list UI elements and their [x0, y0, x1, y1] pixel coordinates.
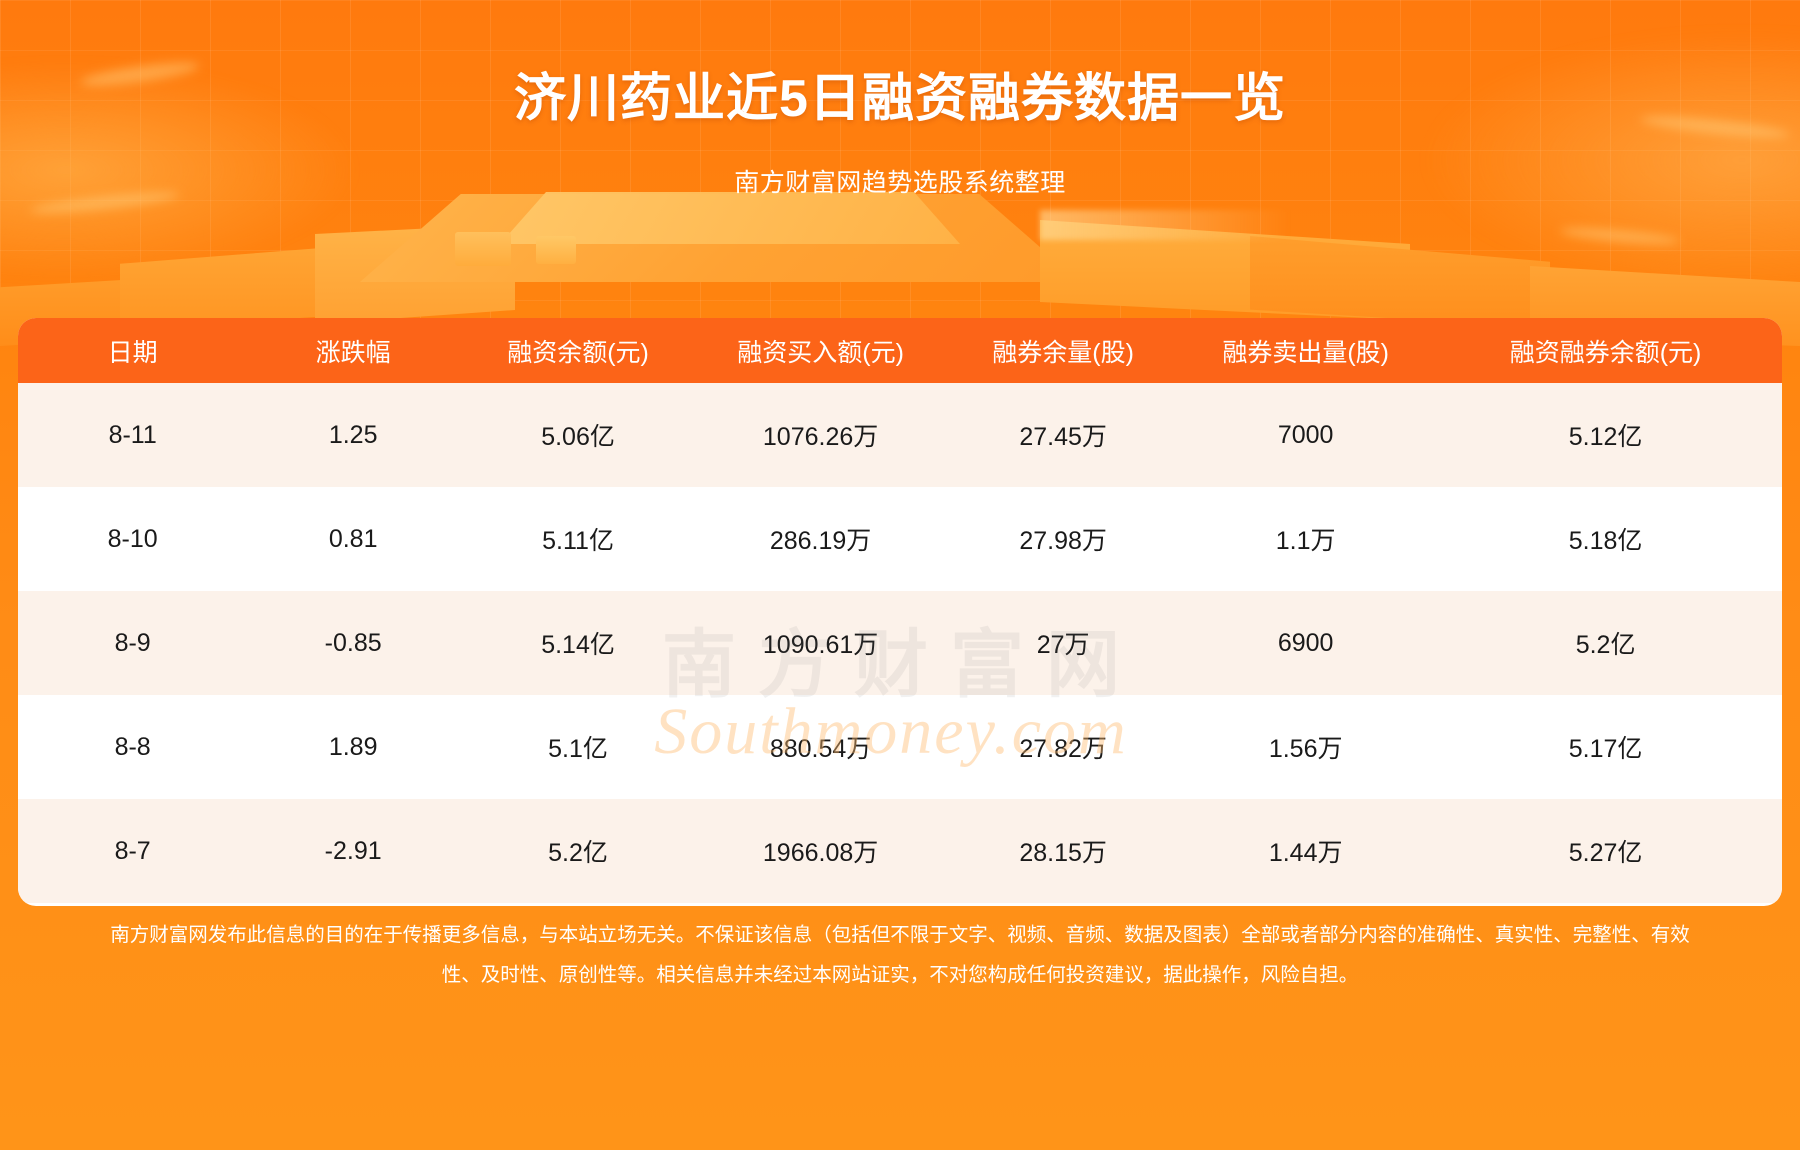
cell-margin-balance: 5.06亿	[459, 383, 697, 487]
cell-short-balance: 28.15万	[944, 799, 1182, 903]
cell-short-sell: 1.44万	[1182, 799, 1429, 903]
cell-short-balance: 27万	[944, 591, 1182, 695]
column-header-margin-buy: 融资买入额(元)	[697, 318, 944, 383]
page-subtitle: 南方财富网趋势选股系统整理	[0, 163, 1800, 199]
cell-total-balance: 5.12亿	[1429, 383, 1782, 487]
cell-margin-buy: 286.19万	[697, 487, 944, 591]
cell-short-balance: 27.82万	[944, 695, 1182, 799]
cell-short-balance: 27.45万	[944, 383, 1182, 487]
cell-short-sell: 7000	[1182, 383, 1429, 487]
podium-cube-a	[455, 232, 511, 266]
table-body: 8-11 1.25 5.06亿 1076.26万 27.45万 7000 5.1…	[18, 383, 1782, 903]
cell-short-sell: 6900	[1182, 591, 1429, 695]
cell-date: 8-9	[18, 591, 247, 695]
cell-margin-balance: 5.14亿	[459, 591, 697, 695]
column-header-date: 日期	[18, 318, 247, 383]
disclaimer: 南方财富网发布此信息的目的在于传播更多信息，与本站立场无关。不保证该信息（包括但…	[0, 915, 1800, 995]
page-header: 济川药业近5日融资融券数据一览 南方财富网趋势选股系统整理	[0, 0, 1800, 199]
column-header-margin-balance: 融资余额(元)	[459, 318, 697, 383]
cell-change: -2.91	[247, 799, 459, 903]
data-table-card: 日期 涨跌幅 融资余额(元) 融资买入额(元) 融券余量(股) 融券卖出量(股)…	[18, 318, 1782, 906]
cell-total-balance: 5.2亿	[1429, 591, 1782, 695]
cell-date: 8-10	[18, 487, 247, 591]
cell-margin-balance: 5.2亿	[459, 799, 697, 903]
cell-short-balance: 27.98万	[944, 487, 1182, 591]
table-row: 8-9 -0.85 5.14亿 1090.61万 27万 6900 5.2亿	[18, 591, 1782, 695]
podium-illustration	[0, 180, 1800, 340]
cell-margin-buy: 1966.08万	[697, 799, 944, 903]
disclaimer-line-1: 南方财富网发布此信息的目的在于传播更多信息，与本站立场无关。不保证该信息（包括但…	[8, 915, 1792, 955]
cell-margin-balance: 5.1亿	[459, 695, 697, 799]
page-title: 济川药业近5日融资融券数据一览	[0, 56, 1800, 131]
cell-date: 8-7	[18, 799, 247, 903]
column-header-change: 涨跌幅	[247, 318, 459, 383]
cell-total-balance: 5.17亿	[1429, 695, 1782, 799]
table-row: 8-8 1.89 5.1亿 880.54万 27.82万 1.56万 5.17亿	[18, 695, 1782, 799]
disclaimer-line-2: 性、及时性、原创性等。相关信息并未经过本网站证实，不对您构成任何投资建议，据此操…	[8, 955, 1792, 995]
column-header-short-sell: 融券卖出量(股)	[1182, 318, 1429, 383]
cell-margin-buy: 1076.26万	[697, 383, 944, 487]
podium-highlight	[1040, 210, 1290, 240]
cell-change: -0.85	[247, 591, 459, 695]
table-row: 8-11 1.25 5.06亿 1076.26万 27.45万 7000 5.1…	[18, 383, 1782, 487]
cell-change: 0.81	[247, 487, 459, 591]
cell-margin-buy: 880.54万	[697, 695, 944, 799]
table-row: 8-10 0.81 5.11亿 286.19万 27.98万 1.1万 5.18…	[18, 487, 1782, 591]
table-header: 日期 涨跌幅 融资余额(元) 融资买入额(元) 融券余量(股) 融券卖出量(股)…	[18, 318, 1782, 383]
cell-short-sell: 1.1万	[1182, 487, 1429, 591]
cell-total-balance: 5.27亿	[1429, 799, 1782, 903]
cell-total-balance: 5.18亿	[1429, 487, 1782, 591]
podium-cube-b	[536, 236, 576, 264]
cell-change: 1.25	[247, 383, 459, 487]
column-header-total-balance: 融资融券余额(元)	[1429, 318, 1782, 383]
cell-margin-balance: 5.11亿	[459, 487, 697, 591]
cell-change: 1.89	[247, 695, 459, 799]
cell-short-sell: 1.56万	[1182, 695, 1429, 799]
table-row: 8-7 -2.91 5.2亿 1966.08万 28.15万 1.44万 5.2…	[18, 799, 1782, 903]
table-header-row: 日期 涨跌幅 融资余额(元) 融资买入额(元) 融券余量(股) 融券卖出量(股)…	[18, 318, 1782, 383]
cell-margin-buy: 1090.61万	[697, 591, 944, 695]
margin-trading-table: 日期 涨跌幅 融资余额(元) 融资买入额(元) 融券余量(股) 融券卖出量(股)…	[18, 318, 1782, 903]
cell-date: 8-11	[18, 383, 247, 487]
cell-date: 8-8	[18, 695, 247, 799]
column-header-short-balance: 融券余量(股)	[944, 318, 1182, 383]
